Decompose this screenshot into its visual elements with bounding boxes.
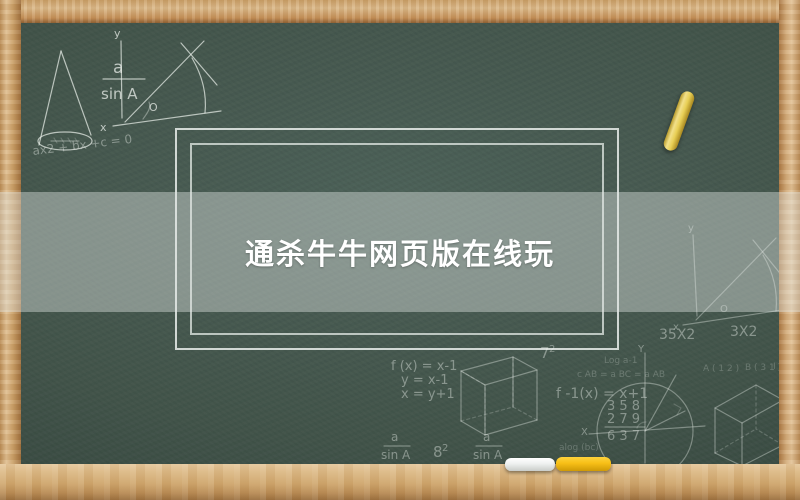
svg-text:Y: Y — [637, 344, 645, 355]
svg-text:y: y — [114, 27, 121, 40]
svg-text:A ( 1 2 ): A ( 1 2 ) — [703, 364, 739, 374]
alog-note: alog (bc) — [559, 443, 599, 453]
faint-note-ab-bc: c AB = a BC = a AB — [577, 370, 665, 380]
svg-text:a: a — [483, 430, 490, 444]
svg-text:2 7 9: 2 7 9 — [607, 412, 640, 427]
a-over-sin-a-bottom-center: a sin A — [473, 430, 503, 462]
cube-sketch-bottom-center — [461, 357, 537, 435]
chalkboard-banner: a sin A y x O ax2 — [0, 0, 800, 500]
chalk-ledge — [0, 464, 800, 500]
svg-text:sin A: sin A — [101, 85, 138, 103]
svg-text:2: 2 — [442, 443, 448, 454]
svg-text:x = y+1: x = y+1 — [401, 387, 455, 402]
matrix-notation-group: A ( 1 2 ) B ( 3 1 ) I ( 1 0 ) — [703, 362, 783, 374]
svg-text:x: x — [100, 121, 107, 134]
a-over-sin-a-top-left: a sin A — [101, 58, 145, 103]
angle-diagram-top-left: y x O — [100, 27, 221, 134]
log-note: Log a-1 — [604, 356, 637, 366]
svg-text:a: a — [391, 430, 398, 444]
svg-text:sin A: sin A — [473, 448, 503, 462]
arithmetic-column: 3 5 8 2 7 9 6 3 7 — [605, 399, 645, 444]
svg-text:y = x-1: y = x-1 — [401, 373, 449, 388]
function-equations-block: f (x) = x-1 y = x-1 x = y+1 — [391, 359, 457, 402]
svg-text:6 3 7: 6 3 7 — [607, 429, 640, 444]
svg-text:X: X — [581, 427, 588, 438]
svg-text:ax2 + bx +c = 0: ax2 + bx +c = 0 — [32, 132, 133, 158]
svg-text:O: O — [149, 101, 158, 114]
svg-text:sin A: sin A — [381, 448, 411, 462]
quadratic-equation-text: ax2 + bx +c = 0 — [32, 132, 133, 158]
white-chalk-on-ledge — [505, 458, 555, 471]
note-35x2: 35X2 — [659, 327, 695, 343]
eight-squared-text: 8 2 — [433, 443, 448, 461]
note-3x2: 3X2 — [730, 324, 757, 340]
cone-sketch — [38, 51, 92, 150]
banner-title: 通杀牛牛网页版在线玩 — [0, 192, 800, 312]
yellow-chalk-on-ledge — [556, 457, 611, 471]
a-over-sin-a-bottom-left: a sin A — [381, 430, 411, 462]
wood-frame-top — [0, 0, 800, 23]
unit-circle-diagram: Y X — [581, 344, 705, 466]
svg-text:f (x) = x-1: f (x) = x-1 — [391, 359, 457, 374]
cube-sketch-bottom-right — [715, 385, 783, 466]
